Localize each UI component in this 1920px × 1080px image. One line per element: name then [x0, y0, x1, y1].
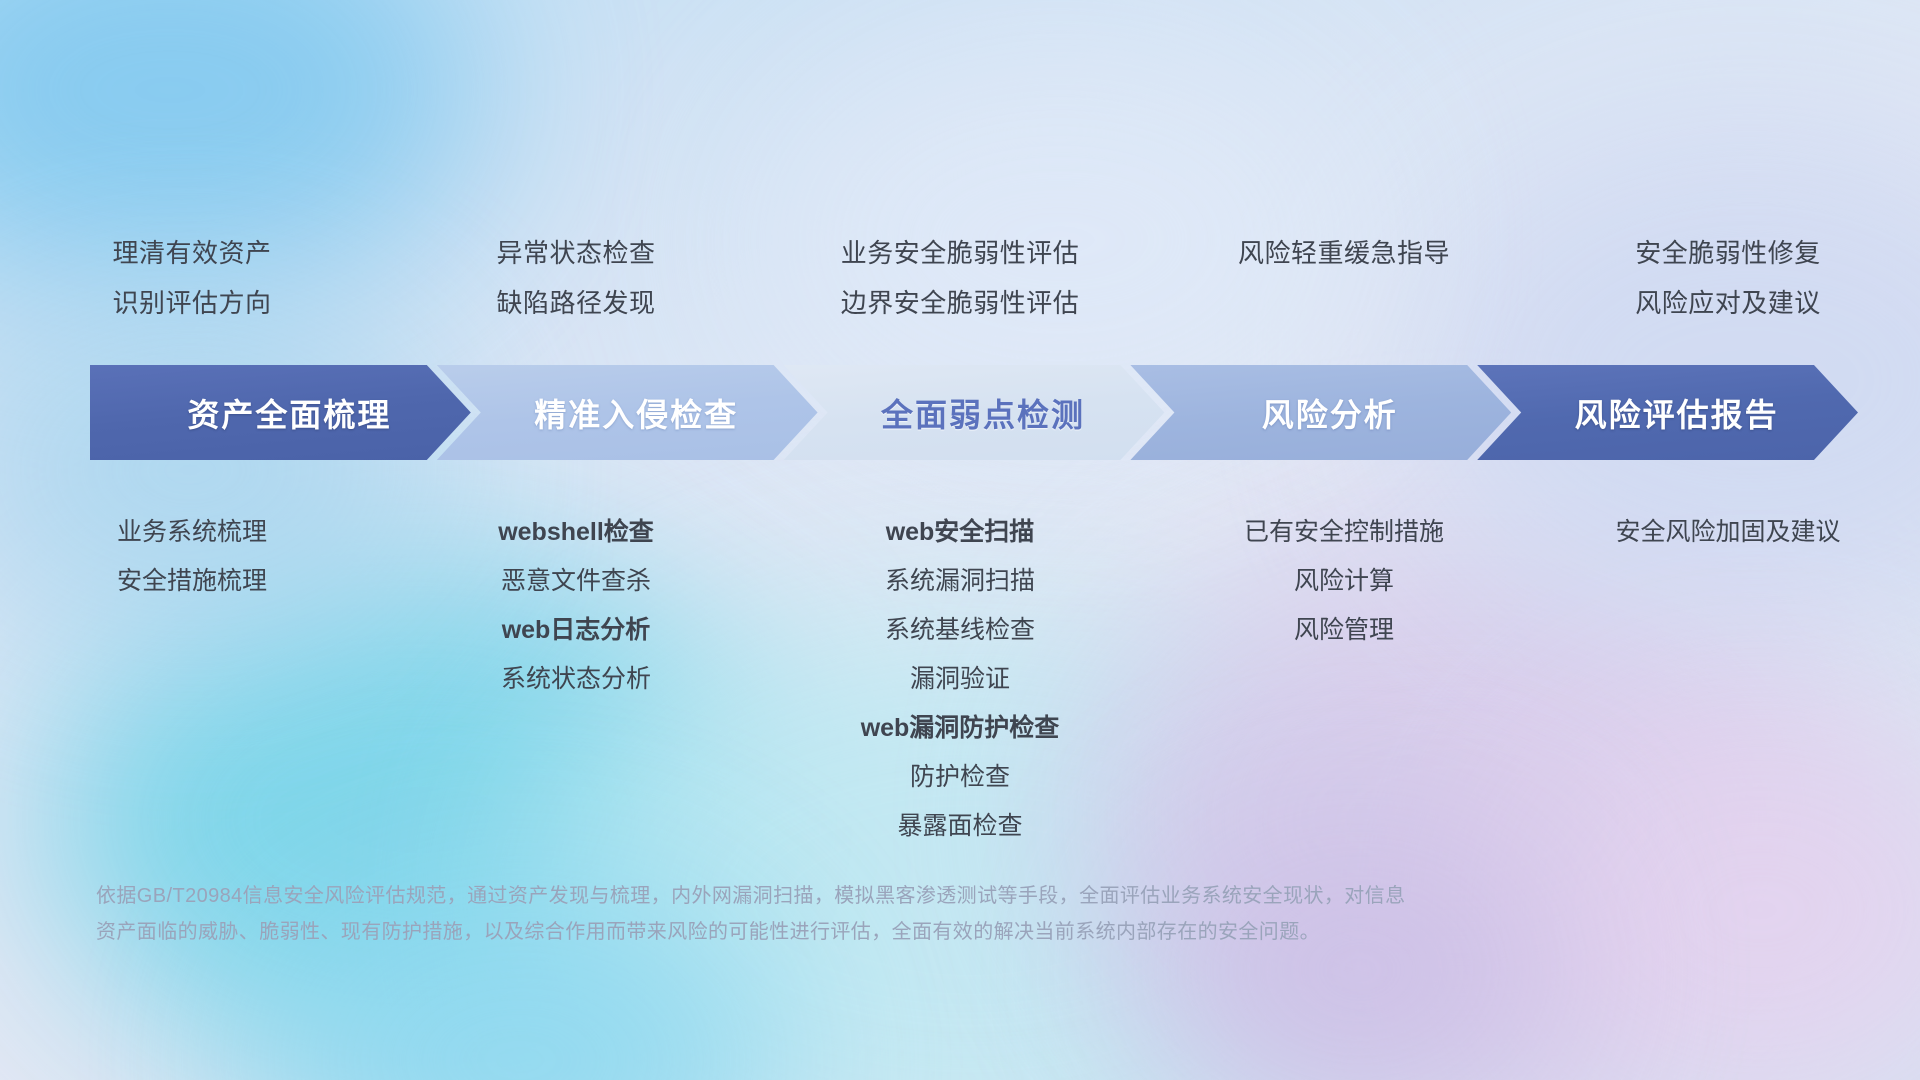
output-text: 安全脆弱性修复: [1635, 228, 1821, 278]
stage-activities-intrusion-check: webshell检查 恶意文件查杀 web日志分析 系统状态分析: [384, 508, 768, 851]
process-flow-diagram: 理清有效资产 识别评估方向 异常状态检查 缺陷路径发现 业务安全脆弱性评估 边界…: [0, 0, 1920, 1080]
footnote-line: 依据GB/T20984信息安全风险评估规范，通过资产发现与梳理，内外网漏洞扫描，…: [96, 878, 1596, 914]
stage-banner-band: 资产全面梳理 精准入侵检查 全面弱点检测 风险分析 风险评估报告: [90, 365, 1858, 460]
output-text: 缺陷路径发现: [496, 278, 655, 328]
output-text: 业务安全脆弱性评估: [841, 228, 1080, 278]
output-text: 风险应对及建议: [1635, 278, 1821, 328]
footnote-line: 资产面临的威胁、脆弱性、现有防护措施，以及综合作用而带来风险的可能性进行评估，全…: [96, 914, 1596, 950]
stage-outputs-weakness-detection: 业务安全脆弱性评估 边界安全脆弱性评估: [768, 228, 1152, 328]
activity-item: 业务系统梳理: [117, 508, 267, 557]
activity-item: web日志分析: [502, 606, 651, 655]
stage-outputs-risk-report: 安全脆弱性修复 风险应对及建议: [1536, 228, 1920, 328]
stage-banner-label: 资产全面梳理: [169, 390, 391, 436]
stage-banner-intrusion-check[interactable]: 精准入侵检查: [437, 365, 818, 460]
stage-activities-risk-analysis: 已有安全控制措施 风险计算 风险管理: [1152, 508, 1536, 851]
stage-banner-label: 全面弱点检测: [863, 390, 1085, 436]
output-text: 异常状态检查: [496, 228, 655, 278]
activity-item: web安全扫描: [886, 508, 1035, 557]
activity-item: 暴露面检查: [897, 802, 1022, 851]
activity-item: 防护检查: [910, 753, 1010, 802]
stage-banner-label: 风险分析: [1244, 390, 1398, 436]
stage-outputs-risk-analysis: 风险轻重缓急指导: [1152, 228, 1536, 328]
stage-activities-risk-report: 安全风险加固及建议: [1536, 508, 1920, 851]
stage-outputs-row: 理清有效资产 识别评估方向 异常状态检查 缺陷路径发现 业务安全脆弱性评估 边界…: [0, 228, 1920, 328]
output-text: 理清有效资产: [112, 228, 271, 278]
activity-item: 系统状态分析: [501, 655, 651, 704]
activity-item: 已有安全控制措施: [1244, 508, 1444, 557]
stage-banner-asset-inventory[interactable]: 资产全面梳理: [90, 365, 471, 460]
output-text: 识别评估方向: [112, 278, 271, 328]
stage-banner-risk-report[interactable]: 风险评估报告: [1477, 365, 1858, 460]
activity-item: 系统基线检查: [885, 606, 1035, 655]
activity-item: 安全措施梳理: [117, 557, 267, 606]
activity-item: 恶意文件查杀: [501, 557, 651, 606]
output-text: 风险轻重缓急指导: [1238, 228, 1450, 278]
stage-activities-asset-inventory: 业务系统梳理 安全措施梳理: [0, 508, 384, 851]
activity-item: web漏洞防护检查: [861, 704, 1060, 753]
activity-item: 风险计算: [1294, 557, 1394, 606]
activity-item: 风险管理: [1294, 606, 1394, 655]
output-text: 边界安全脆弱性评估: [841, 278, 1080, 328]
stage-activities-row: 业务系统梳理 安全措施梳理 webshell检查 恶意文件查杀 web日志分析 …: [0, 508, 1920, 851]
stage-outputs-asset-inventory: 理清有效资产 识别评估方向: [0, 228, 384, 328]
activity-item: 安全风险加固及建议: [1615, 508, 1840, 557]
stage-banner-label: 风险评估报告: [1557, 390, 1779, 436]
stage-outputs-intrusion-check: 异常状态检查 缺陷路径发现: [384, 228, 768, 328]
stage-banner-weakness-detection[interactable]: 全面弱点检测: [784, 365, 1165, 460]
stage-banner-risk-analysis[interactable]: 风险分析: [1130, 365, 1511, 460]
activity-item: 漏洞验证: [910, 655, 1010, 704]
stage-banner-label: 精准入侵检查: [516, 390, 738, 436]
footnote-paragraph: 依据GB/T20984信息安全风险评估规范，通过资产发现与梳理，内外网漏洞扫描，…: [96, 878, 1596, 950]
activity-item: 系统漏洞扫描: [885, 557, 1035, 606]
stage-activities-weakness-detection: web安全扫描 系统漏洞扫描 系统基线检查 漏洞验证 web漏洞防护检查 防护检…: [768, 508, 1152, 851]
activity-item: webshell检查: [498, 508, 654, 557]
